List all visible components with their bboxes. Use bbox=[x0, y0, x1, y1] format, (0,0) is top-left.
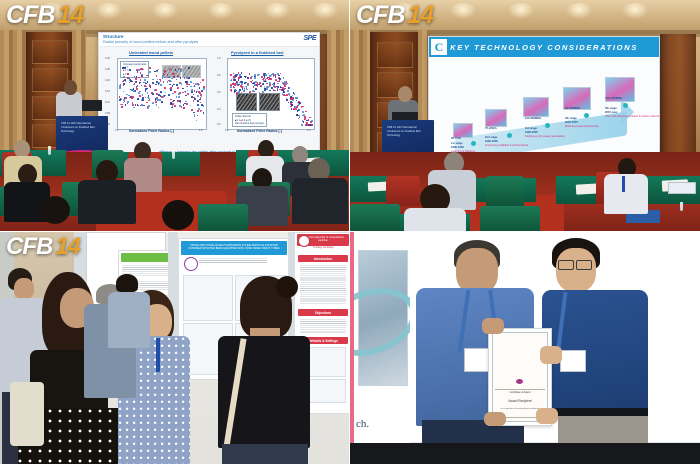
chair bbox=[198, 204, 248, 231]
stage-info: 3rd stage 1995-2005 Scaling-up (for powe… bbox=[525, 127, 565, 139]
stage-info: 5th stage 2015-now USC and ultra-low emi… bbox=[605, 107, 660, 119]
scatter-point bbox=[163, 97, 165, 99]
event-banner: ch. bbox=[350, 232, 410, 444]
scatter-point bbox=[122, 67, 124, 69]
scatter-point bbox=[240, 81, 242, 83]
left-plot-ytick: 0.25 bbox=[105, 68, 110, 71]
scatter-point bbox=[174, 91, 176, 93]
scatter-point bbox=[191, 89, 193, 91]
stage-years: 1990-2000 bbox=[485, 140, 498, 143]
scatter-point bbox=[172, 93, 174, 95]
scatter-point bbox=[231, 91, 233, 93]
scatter-point bbox=[132, 104, 134, 106]
scatter-point bbox=[289, 87, 291, 89]
scatter-point bbox=[187, 90, 189, 92]
scatter-point bbox=[124, 97, 126, 99]
scatter-point bbox=[129, 69, 131, 71]
scatter-point bbox=[290, 101, 292, 103]
scatter-point bbox=[160, 80, 162, 82]
scatter-point bbox=[156, 98, 158, 100]
stage-info: 2nd stage 1990-2000 Improving (reliabili… bbox=[485, 136, 528, 148]
scatter-point bbox=[280, 86, 282, 88]
panel-top-left: Structure Radial porosity of wood pellet… bbox=[0, 0, 349, 231]
scatter-point bbox=[198, 84, 200, 86]
stage-floor bbox=[350, 443, 700, 464]
left-plot-xlabel: Normalized Pellet Radius [-] bbox=[129, 129, 174, 133]
attendee-torso bbox=[404, 208, 466, 231]
left-scatter-plot: Untreated wood pellet ■ 1:1 ■ 1:3 ■ 1:5 bbox=[117, 58, 207, 130]
scatter-point bbox=[295, 108, 297, 110]
scatter-point bbox=[305, 111, 307, 113]
scatter-point bbox=[299, 109, 301, 111]
scatter-point bbox=[234, 79, 236, 81]
scatter-point bbox=[250, 81, 252, 83]
scatter-point bbox=[131, 97, 133, 99]
scatter-point bbox=[197, 104, 199, 106]
scatter-point bbox=[161, 101, 163, 103]
scatter-point bbox=[203, 88, 205, 90]
poster-section-heading: Objectives bbox=[298, 309, 348, 316]
scatter-point bbox=[292, 95, 294, 97]
scatter-point bbox=[280, 73, 282, 75]
watermark-cfb14: CFB14 bbox=[356, 3, 433, 28]
stage-years: 1995-2005 bbox=[525, 131, 538, 134]
scatter-point bbox=[159, 79, 161, 81]
watermark-cfb: CFB bbox=[6, 1, 54, 29]
right-plot-xtick: 1.0 bbox=[307, 129, 310, 132]
scatter-point bbox=[194, 98, 196, 100]
scatter-point bbox=[142, 99, 144, 101]
glasses-icon bbox=[558, 260, 574, 270]
downlight-icon bbox=[622, 3, 648, 19]
scatter-point bbox=[311, 124, 313, 126]
poster-figure bbox=[183, 275, 233, 321]
scatter-point bbox=[302, 111, 304, 113]
scatter-point bbox=[121, 106, 123, 108]
right-plot-ytick: 0.8 bbox=[217, 74, 220, 77]
scatter-point bbox=[197, 115, 199, 117]
watermark-cfb: CFB bbox=[356, 1, 404, 29]
scatter-point bbox=[138, 92, 140, 94]
scatter-point bbox=[150, 86, 152, 88]
scatter-point bbox=[155, 89, 157, 91]
scatter-point bbox=[238, 79, 240, 81]
scatter-point bbox=[155, 84, 157, 86]
scatter-point bbox=[270, 78, 272, 80]
projection-screen: Structure Radial porosity of wood pellet… bbox=[98, 32, 320, 164]
recipient-hand bbox=[536, 408, 558, 424]
scatter-point bbox=[190, 105, 192, 107]
scatter-point bbox=[186, 77, 188, 79]
scatter-point bbox=[193, 97, 195, 99]
watermark-14: 14 bbox=[407, 1, 433, 29]
photo-collage: Structure Radial porosity of wood pellet… bbox=[0, 0, 700, 464]
scatter-point bbox=[172, 101, 174, 103]
scatter-point bbox=[140, 69, 142, 71]
scatter-point bbox=[238, 91, 240, 93]
scatter-point bbox=[259, 92, 261, 94]
scatter-point bbox=[162, 77, 164, 79]
projection-screen: C KEY TECHNOLOGY CONSIDERATIONS 35-75t/h… bbox=[428, 36, 660, 168]
scatter-point bbox=[125, 98, 127, 100]
glasses-icon bbox=[576, 260, 592, 270]
scatter-point bbox=[158, 94, 160, 96]
recipient-hand bbox=[540, 346, 562, 364]
scatter-point bbox=[133, 84, 135, 86]
watermark-14: 14 bbox=[57, 1, 83, 29]
banner-edge bbox=[350, 232, 354, 464]
scatter-point bbox=[200, 82, 202, 84]
scatter-point bbox=[191, 91, 193, 93]
scatter-point bbox=[152, 102, 154, 104]
scatter-point bbox=[194, 115, 196, 117]
slide-subtitle: Radial porosity of wood pellets before a… bbox=[103, 40, 198, 44]
scatter-point bbox=[136, 88, 138, 90]
scatter-point bbox=[185, 81, 187, 83]
scatter-point bbox=[233, 73, 235, 75]
scatter-point bbox=[254, 91, 256, 93]
scatter-point bbox=[152, 82, 154, 84]
scatter-point bbox=[203, 112, 205, 114]
stage-years: 2015-now bbox=[605, 111, 617, 114]
stage-note: Maturing (supercritical units) bbox=[565, 125, 599, 128]
scatter-point bbox=[290, 98, 292, 100]
poster-body-text bbox=[300, 319, 346, 333]
attendee-trousers bbox=[222, 444, 308, 464]
watermark-cfb14: CFB14 bbox=[6, 235, 80, 259]
scatter-point bbox=[190, 81, 192, 83]
right-plot-xlabel: Normalized Pellet Radius [-] bbox=[237, 129, 282, 133]
scatter-point bbox=[248, 77, 250, 79]
scatter-point bbox=[147, 92, 149, 94]
scatter-point bbox=[253, 86, 255, 88]
lecture-hall-photo: Structure Radial porosity of wood pellet… bbox=[0, 0, 349, 231]
scatter-point bbox=[287, 90, 289, 92]
scatter-point bbox=[184, 74, 186, 76]
scatter-point bbox=[172, 73, 174, 75]
stage-ordinal: 1st stage bbox=[451, 142, 463, 145]
water-bottle bbox=[48, 146, 51, 155]
scatter-point bbox=[152, 79, 154, 81]
scatter-point bbox=[233, 87, 235, 89]
downlight-icon bbox=[152, 3, 178, 19]
scatter-point bbox=[257, 74, 259, 76]
scatter-point bbox=[277, 81, 279, 83]
scatter-point bbox=[230, 80, 232, 82]
water-bottle bbox=[172, 150, 175, 159]
scatter-point bbox=[266, 89, 268, 91]
stage-ordinal: 4th stage bbox=[565, 117, 577, 120]
spe-logo-text: SPE bbox=[303, 35, 316, 42]
scatter-point bbox=[138, 77, 140, 79]
scatter-point bbox=[188, 77, 190, 79]
scatter-point bbox=[140, 79, 142, 81]
scatter-point bbox=[124, 67, 126, 69]
panel-bottom-right: ch. Cert bbox=[350, 232, 700, 464]
scatter-point bbox=[269, 90, 271, 92]
watermark-cfb14: CFB14 bbox=[6, 3, 83, 28]
scatter-point bbox=[146, 102, 148, 104]
scatter-point bbox=[304, 118, 306, 120]
scatter-point bbox=[296, 97, 298, 99]
scatter-point bbox=[156, 75, 158, 77]
scatter-point bbox=[127, 103, 129, 105]
scatter-point bbox=[309, 124, 311, 126]
downlight-icon bbox=[312, 3, 338, 19]
scatter-point bbox=[182, 88, 184, 90]
scatter-point bbox=[123, 85, 125, 87]
scatter-point bbox=[201, 95, 203, 97]
downlight-icon bbox=[96, 3, 122, 19]
scatter-point bbox=[125, 104, 127, 106]
scatter-point bbox=[234, 92, 236, 94]
scatter-point bbox=[141, 76, 143, 78]
scatter-point bbox=[197, 95, 199, 97]
attendee-face bbox=[14, 278, 34, 300]
poster-title bbox=[121, 253, 173, 262]
scatter-point bbox=[193, 100, 195, 102]
scatter-point bbox=[265, 79, 267, 81]
lanyard bbox=[156, 338, 160, 372]
scatter-point bbox=[171, 107, 173, 109]
scatter-point bbox=[244, 89, 246, 91]
scatter-point bbox=[292, 99, 294, 101]
scatter-point bbox=[232, 83, 234, 85]
downlight-icon bbox=[508, 3, 534, 19]
scatter-point bbox=[200, 102, 202, 104]
scatter-point bbox=[164, 87, 166, 89]
scatter-point bbox=[133, 90, 135, 92]
scatter-point bbox=[147, 81, 149, 83]
scatter-point bbox=[311, 120, 313, 122]
scatter-point bbox=[130, 80, 132, 82]
scatter-point bbox=[173, 84, 175, 86]
poster-body-text bbox=[300, 265, 346, 305]
scatter-point bbox=[177, 87, 179, 89]
scatter-point bbox=[163, 81, 165, 83]
scatter-point bbox=[240, 76, 242, 78]
scatter-point bbox=[145, 97, 147, 99]
scatter-point bbox=[262, 83, 264, 85]
right-plot-ytick: 1.0 bbox=[217, 57, 220, 60]
chair bbox=[486, 176, 524, 206]
scatter-point bbox=[230, 86, 232, 88]
left-plot-points bbox=[118, 59, 206, 129]
chair bbox=[350, 204, 400, 231]
attendee-head bbox=[40, 196, 70, 224]
door bbox=[660, 34, 696, 158]
scatter-point bbox=[160, 84, 162, 86]
scatter-point bbox=[159, 99, 161, 101]
scatter-point bbox=[148, 105, 150, 107]
spe-logo: SPE bbox=[303, 35, 316, 42]
scatter-point bbox=[145, 86, 147, 88]
scatter-point bbox=[142, 97, 144, 99]
scatter-point bbox=[251, 76, 253, 78]
scatter-point bbox=[249, 73, 251, 75]
certificate-seal-icon bbox=[516, 379, 523, 384]
scatter-point bbox=[254, 74, 256, 76]
left-plot-ytick: 0.15 bbox=[105, 90, 110, 93]
scatter-point bbox=[269, 86, 271, 88]
tote-bag bbox=[10, 382, 44, 446]
scatter-point bbox=[123, 91, 125, 93]
scatter-point bbox=[155, 101, 157, 103]
scatter-point bbox=[181, 106, 183, 108]
scatter-point bbox=[255, 88, 257, 90]
scatter-point bbox=[301, 124, 303, 126]
scatter-point bbox=[193, 94, 195, 96]
downlight-icon bbox=[264, 3, 290, 19]
attendee-hair bbox=[116, 274, 138, 292]
scatter-point bbox=[168, 76, 170, 78]
scatter-point bbox=[149, 85, 151, 87]
poster-authors: Yu Fang, Lei Zhang bbox=[297, 246, 349, 251]
scatter-point bbox=[275, 76, 277, 78]
scatter-point bbox=[199, 92, 201, 94]
scatter-point bbox=[185, 95, 187, 97]
scatter-point bbox=[203, 86, 205, 88]
left-plot-xtick: 1.0 bbox=[199, 129, 202, 132]
right-chart-caption: Pyrolyzed in a fluidized bed bbox=[231, 50, 283, 55]
scatter-point bbox=[267, 86, 269, 88]
scatter-point bbox=[282, 87, 284, 89]
scatter-point bbox=[201, 110, 203, 112]
scatter-point bbox=[144, 79, 146, 81]
scatter-point bbox=[279, 80, 281, 82]
scatter-point bbox=[248, 84, 250, 86]
scatter-point bbox=[180, 77, 182, 79]
scatter-point bbox=[197, 100, 199, 102]
scatter-point bbox=[163, 74, 165, 76]
scatter-point bbox=[262, 91, 264, 93]
watermark-14: 14 bbox=[55, 233, 80, 260]
scatter-point bbox=[277, 89, 279, 91]
stage-ordinal: 5th stage bbox=[605, 107, 617, 110]
scatter-point bbox=[141, 85, 143, 87]
right-plot-ytick: 0.6 bbox=[217, 91, 220, 94]
plant-illustration bbox=[523, 97, 549, 117]
presenter-hand bbox=[482, 318, 504, 334]
poster-session-photo: CROSS-SECTIONAL EFFECT EXPANSION IN FINE… bbox=[0, 232, 349, 464]
scatter-point bbox=[241, 92, 243, 94]
stage-capacity: 35-75t/h bbox=[451, 137, 461, 140]
scatter-point bbox=[138, 69, 140, 71]
scatter-point bbox=[190, 86, 192, 88]
certificate-line bbox=[495, 389, 545, 390]
scatter-point bbox=[269, 82, 271, 84]
attendee-torso bbox=[78, 180, 136, 224]
left-plot-ytick: 0.10 bbox=[105, 101, 110, 104]
scatter-point bbox=[201, 104, 203, 106]
downlight-icon bbox=[566, 3, 592, 19]
scatter-point bbox=[241, 86, 243, 88]
scatter-point bbox=[123, 74, 125, 76]
scatter-point bbox=[183, 107, 185, 109]
scatter-point bbox=[256, 84, 258, 86]
scatter-point bbox=[199, 99, 201, 101]
scatter-point bbox=[196, 120, 198, 122]
downlight-icon bbox=[450, 3, 476, 19]
scatter-point bbox=[191, 96, 193, 98]
scatter-point bbox=[143, 105, 145, 107]
speaker-head bbox=[64, 80, 77, 95]
stage-note: Improving (reliability & performance) bbox=[485, 144, 528, 147]
scatter-point bbox=[129, 82, 131, 84]
certificate-heading: Certificate of Award bbox=[489, 391, 551, 394]
scatter-point bbox=[146, 88, 148, 90]
scatter-point bbox=[275, 74, 277, 76]
scatter-point bbox=[170, 89, 172, 91]
poster-title: CROSS-SECTIONAL EFFECT EXPANSION IN FINE… bbox=[181, 241, 287, 255]
scatter-point bbox=[187, 93, 189, 95]
speaker-head bbox=[398, 86, 412, 102]
right-scatter-plot: 1:3 1:5 Pellet charcoal ■1:1 ■1:3 ■1:5 a… bbox=[227, 58, 315, 130]
scatter-point bbox=[236, 83, 238, 85]
scatter-point bbox=[191, 109, 193, 111]
scatter-point bbox=[158, 69, 160, 71]
scatter-point bbox=[268, 77, 270, 79]
scatter-point bbox=[156, 71, 158, 73]
table-name-card bbox=[668, 182, 696, 194]
scatter-point bbox=[294, 106, 296, 108]
scatter-point bbox=[299, 117, 301, 119]
scatter-point bbox=[202, 79, 204, 81]
scatter-point bbox=[148, 100, 150, 102]
scatter-point bbox=[158, 107, 160, 109]
scatter-point bbox=[142, 94, 144, 96]
scatter-point bbox=[265, 74, 267, 76]
plant-illustration bbox=[453, 123, 473, 138]
stage-years: 2005-2015 bbox=[565, 121, 578, 124]
lanyard bbox=[622, 176, 625, 192]
attendee-torso bbox=[108, 292, 150, 348]
scatter-point bbox=[277, 73, 279, 75]
stage-capacity: 75-220t/h bbox=[485, 127, 497, 130]
award-rosette-icon bbox=[184, 257, 198, 271]
scatter-point bbox=[137, 71, 139, 73]
scatter-point bbox=[182, 92, 184, 94]
stage-ordinal: 3rd stage bbox=[525, 127, 537, 130]
scatter-point bbox=[197, 110, 199, 112]
scatter-point bbox=[152, 93, 154, 95]
scatter-point bbox=[180, 70, 182, 72]
stage-ordinal: 2nd stage bbox=[485, 136, 498, 139]
scatter-point bbox=[160, 91, 162, 93]
scatter-point bbox=[149, 67, 151, 69]
scatter-point bbox=[286, 94, 288, 96]
scatter-point bbox=[254, 77, 256, 79]
scatter-point bbox=[119, 96, 121, 98]
scatter-point bbox=[230, 89, 232, 91]
scatter-point bbox=[120, 84, 122, 86]
stage-note: Scaling-up (for power generation) bbox=[525, 135, 565, 138]
stage-capacity: USC 660MWe bbox=[605, 97, 622, 100]
scatter-point bbox=[170, 81, 172, 83]
scatter-point bbox=[271, 87, 273, 89]
scatter-point bbox=[164, 77, 166, 79]
stage-capacity: 100-300MWe bbox=[525, 117, 541, 120]
recipient-face bbox=[556, 248, 596, 292]
scatter-point bbox=[168, 80, 170, 82]
scatter-point bbox=[178, 93, 180, 95]
scatter-point bbox=[193, 86, 195, 88]
scatter-point bbox=[181, 68, 183, 70]
scatter-point bbox=[176, 84, 178, 86]
right-plot-ytick: 0.4 bbox=[217, 108, 220, 111]
scatter-point bbox=[306, 120, 308, 122]
chair bbox=[386, 176, 420, 206]
